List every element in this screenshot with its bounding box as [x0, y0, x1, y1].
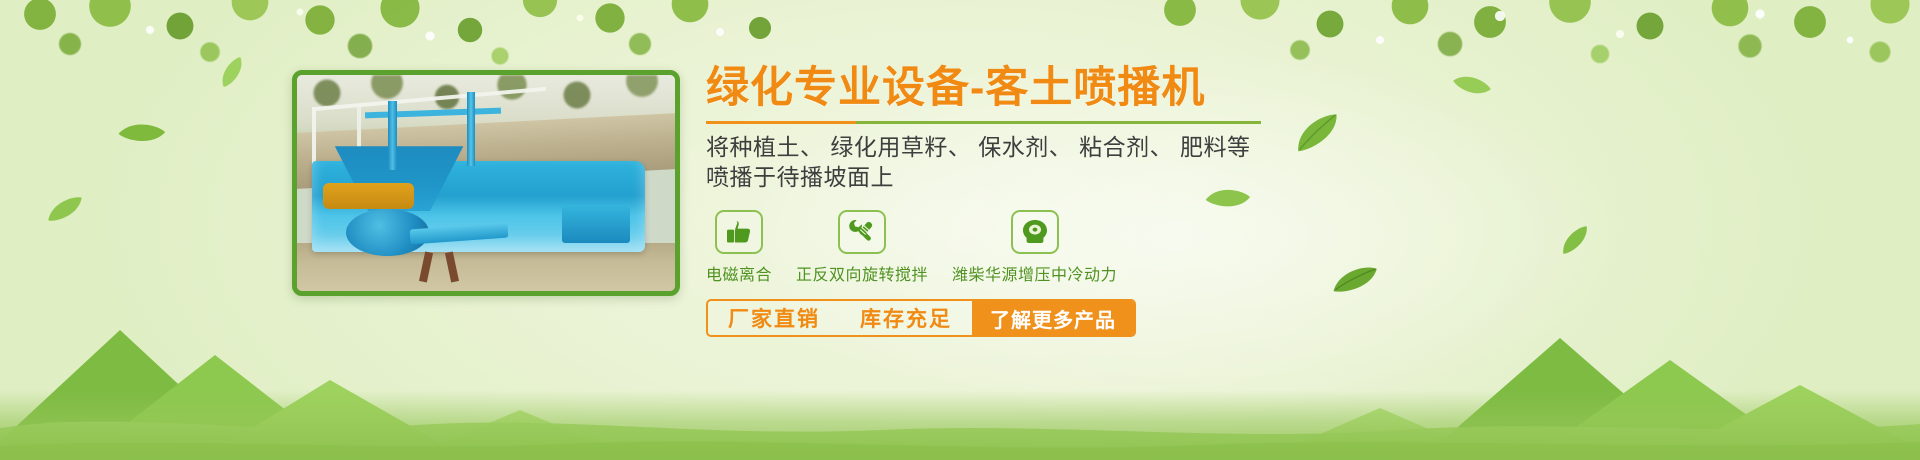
- feature-label: 电磁离合: [706, 261, 772, 285]
- product-photo-image: [297, 75, 675, 291]
- floating-leaf-icon: [1554, 222, 1597, 258]
- banner-content: 绿化专业设备-客土喷播机 将种植土、 绿化用草籽、 保水剂、 粘合剂、 肥料等 …: [706, 66, 1286, 337]
- title-divider: [706, 121, 1261, 124]
- wrench-screwdriver-icon: [838, 210, 886, 254]
- feature-label: 正反双向旋转搅拌: [796, 261, 928, 285]
- product-photo[interactable]: [292, 70, 680, 296]
- engine-gear-icon: [1011, 210, 1059, 254]
- cta-slogan-left: 厂家直销: [708, 301, 840, 335]
- thumbs-up-icon: [715, 210, 763, 254]
- grass-strip-decoration: [0, 390, 1920, 460]
- feature-list: 电磁离合 正反双向旋转搅拌: [706, 210, 1286, 285]
- feature-item-weichai-power[interactable]: 潍柴华源增压中冷动力: [952, 210, 1117, 285]
- feature-label: 潍柴华源增压中冷动力: [952, 261, 1117, 285]
- subtitle-line-2: 喷播于待播坡面上: [706, 163, 1286, 192]
- feature-item-bidirectional-mixing[interactable]: 正反双向旋转搅拌: [796, 210, 928, 285]
- promo-banner: 绿化专业设备-客土喷播机 将种植土、 绿化用草籽、 保水剂、 粘合剂、 肥料等 …: [0, 0, 1920, 460]
- feature-item-electromagnetic-clutch[interactable]: 电磁离合: [706, 210, 772, 285]
- banner-subtitle: 将种植土、 绿化用草籽、 保水剂、 粘合剂、 肥料等 喷播于待播坡面上: [706, 133, 1286, 192]
- subtitle-line-1: 将种植土、 绿化用草籽、 保水剂、 粘合剂、 肥料等: [706, 133, 1286, 162]
- floating-leaf-icon: [42, 193, 88, 225]
- cta-bar: 厂家直销 库存充足 了解更多产品: [706, 299, 1136, 337]
- cta-slogan-right: 库存充足: [840, 301, 972, 335]
- banner-title: 绿化专业设备-客土喷播机: [706, 66, 1286, 111]
- learn-more-button[interactable]: 了解更多产品: [972, 301, 1134, 335]
